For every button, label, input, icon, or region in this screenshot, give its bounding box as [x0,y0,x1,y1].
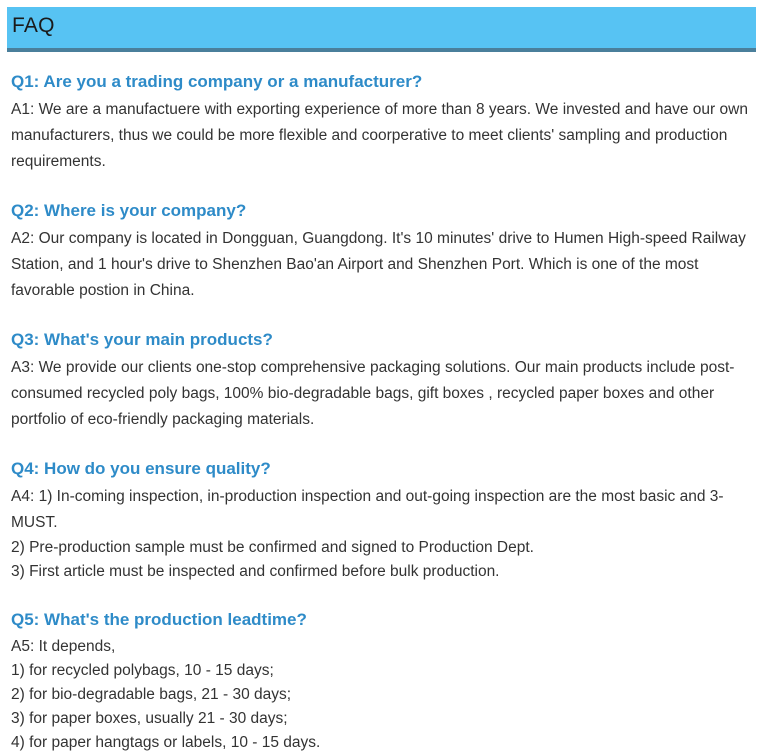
faq-banner: FAQ [7,7,756,52]
faq-section-q2: Q2: Where is your company? A2: Our compa… [11,199,753,304]
faq-question-q4: Q4: How do you ensure quality? [11,457,753,481]
faq-answer-q5-line-4: 3) for paper boxes, usually 21 - 30 days… [11,707,753,731]
faq-answer-q3: A3: We provide our clients one-stop comp… [11,355,753,433]
faq-answer-q1: A1: We are a manufactuere with exporting… [11,97,753,175]
faq-section-q1: Q1: Are you a trading company or a manuf… [11,70,753,175]
faq-answer-q5-line-1: A5: It depends, [11,635,753,659]
faq-answer-q4-line-1: A4: 1) In-coming inspection, in-producti… [11,484,753,536]
page-title: FAQ [12,12,55,40]
faq-question-q5: Q5: What's the production leadtime? [11,608,753,632]
faq-question-q2: Q2: Where is your company? [11,199,753,223]
faq-section-q3: Q3: What's your main products? A3: We pr… [11,328,753,433]
faq-answer-q5-line-2: 1) for recycled polybags, 10 - 15 days; [11,659,753,683]
faq-answer-q4-line-2: 2) Pre-production sample must be confirm… [11,536,753,560]
faq-section-q4: Q4: How do you ensure quality? A4: 1) In… [11,457,753,584]
faq-question-q3: Q3: What's your main products? [11,328,753,352]
faq-content: Q1: Are you a trading company or a manuf… [11,70,753,755]
faq-question-q1: Q1: Are you a trading company or a manuf… [11,70,753,94]
faq-section-q5: Q5: What's the production leadtime? A5: … [11,608,753,755]
faq-answer-q5-line-5: 4) for paper hangtags or labels, 10 - 15… [11,731,753,755]
faq-page: FAQ Q1: Are you a trading company or a m… [0,0,765,748]
faq-answer-q2: A2: Our company is located in Dongguan, … [11,226,753,304]
faq-answer-q4-line-3: 3) First article must be inspected and c… [11,560,753,584]
faq-answer-q5-line-3: 2) for bio-degradable bags, 21 - 30 days… [11,683,753,707]
